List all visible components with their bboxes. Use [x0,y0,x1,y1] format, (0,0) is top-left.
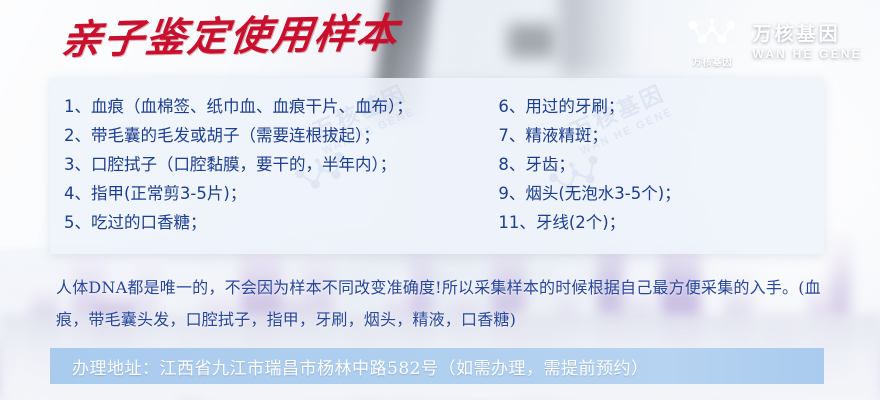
brand-mark: 万核基因 [686,18,738,68]
note-paragraph: 人体DNA都是唯一的，不会因为样本不同改变准确度!所以采集样本的时候根据自己最方… [56,272,846,336]
sample-list-item: 8、牙齿； [498,150,824,179]
address-text: 办理地址：江西省九江市瑞昌市杨林中路582号（如需办理，需提前预约） [72,354,648,379]
sample-list-item: 1、血痕（血棉签、纸巾血、血痕干片、血布）； [64,92,488,121]
brand-mark-label: 万核基因 [692,55,732,68]
sample-list-item: 9、烟头(无泡水3-5个)； [498,179,824,208]
brand-text: 万核基因 WAN HE GENE [752,24,862,62]
sample-list-panel: 万核基因 WAN HE GENE 万核基因 WAN HE GENE [50,78,824,254]
brand-logo: 万核基因 万核基因 WAN HE GENE [686,18,862,68]
sample-list-item: 4、指甲(正常剪3-5片)； [64,179,488,208]
sample-list-item: 2、带毛囊的毛发或胡子（需要连根拔起）； [64,121,488,150]
sample-list-item: 7、精液精斑； [498,121,824,150]
poster-root: 亲子鉴定使用样本 [0,0,880,400]
sample-list-right: 6、用过的牙刷；7、精液精斑；8、牙齿；9、烟头(无泡水3-5个)；11、牙线(… [488,92,824,254]
brand-name-cn: 万核基因 [752,24,862,46]
brand-name-en: WAN HE GENE [752,48,862,62]
sample-list-item: 3、口腔拭子（口腔黏膜，要干的，半年内）； [64,150,488,179]
address-bar: 办理地址：江西省九江市瑞昌市杨林中路582号（如需办理，需提前预约） [50,348,824,384]
page-title: 亲子鉴定使用样本 [59,13,401,60]
sample-list-item: 6、用过的牙刷； [498,92,824,121]
sample-list-item: 5、吃过的口香糖； [64,208,488,237]
sample-list-item: 11、牙线(2个)； [498,208,824,237]
molecule-icon [686,18,738,53]
sample-list-left: 1、血痕（血棉签、纸巾血、血痕干片、血布）；2、带毛囊的毛发或胡子（需要连根拔起… [50,92,488,254]
